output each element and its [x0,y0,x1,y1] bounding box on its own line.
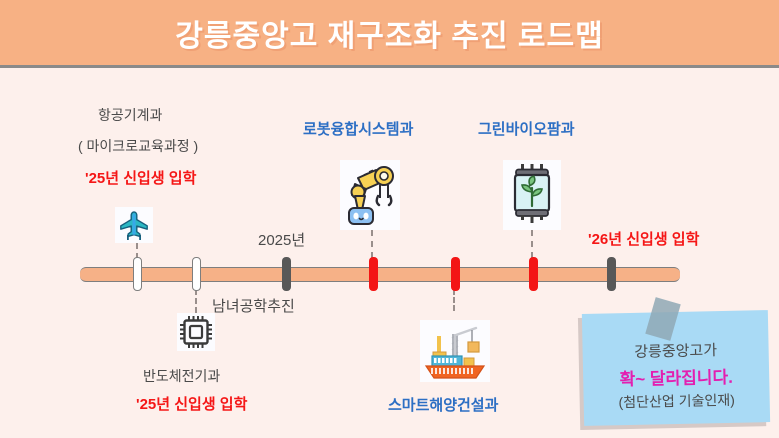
sticky-note: 강릉중앙고가 확~ 달라집니다. (첨단산업 기술인재) [582,310,770,426]
header-banner: 강릉중앙고 재구조화 추진 로드맵 [0,0,779,68]
sticky-note-line3: (첨단산업 기술인재) [584,389,770,413]
marker-robot [369,257,378,291]
roadmap-infographic: 강릉중앙고 재구조화 추진 로드맵 항공기계과 ( 마이크로교육과정 ) '25… [0,0,779,438]
label-coed-promotion: 남녀공학추진 [212,295,295,316]
marker-coed [282,257,291,291]
label-robot-dept: 로봇융합시스템과 [303,118,413,139]
label-aviation-subtitle: ( 마이크로교육과정 ) [78,136,198,156]
connector-robot [371,230,373,258]
label-2026-admission: '26년 신입생 입학 [588,228,699,249]
label-aviation-dept: 항공기계과 [98,105,162,125]
marker-greenbio [529,257,538,291]
bioreactor-plant-icon [503,160,561,230]
label-greenbio-dept: 그린바이오팜과 [478,118,575,139]
label-marine-dept: 스마트해양건설과 [388,394,498,415]
label-aviation-admission: '25년 신입생 입학 [85,167,196,188]
label-semiconductor-dept: 반도체전기과 [143,366,220,386]
timeline-axis [80,267,680,282]
marker-semiconductor [192,257,201,291]
marker-2026 [607,257,616,291]
robot-arm-icon [340,160,400,230]
connector-greenbio [531,230,533,258]
connector-marine [453,289,455,311]
connector-semiconductor [195,289,197,313]
page-title: 강릉중앙고 재구조화 추진 로드맵 [175,11,603,55]
label-year-2025: 2025년 [258,229,305,250]
marker-marine [451,257,460,291]
sticky-note-line1: 강릉중앙고가 [582,338,768,363]
microchip-icon [177,313,215,351]
marker-aviation [133,257,142,291]
airplane-icon [115,207,153,243]
label-semiconductor-admission: '25년 신입생 입학 [136,393,247,414]
construction-ship-icon [420,320,490,382]
sticky-note-line2: 확~ 달라집니다. [583,362,769,391]
